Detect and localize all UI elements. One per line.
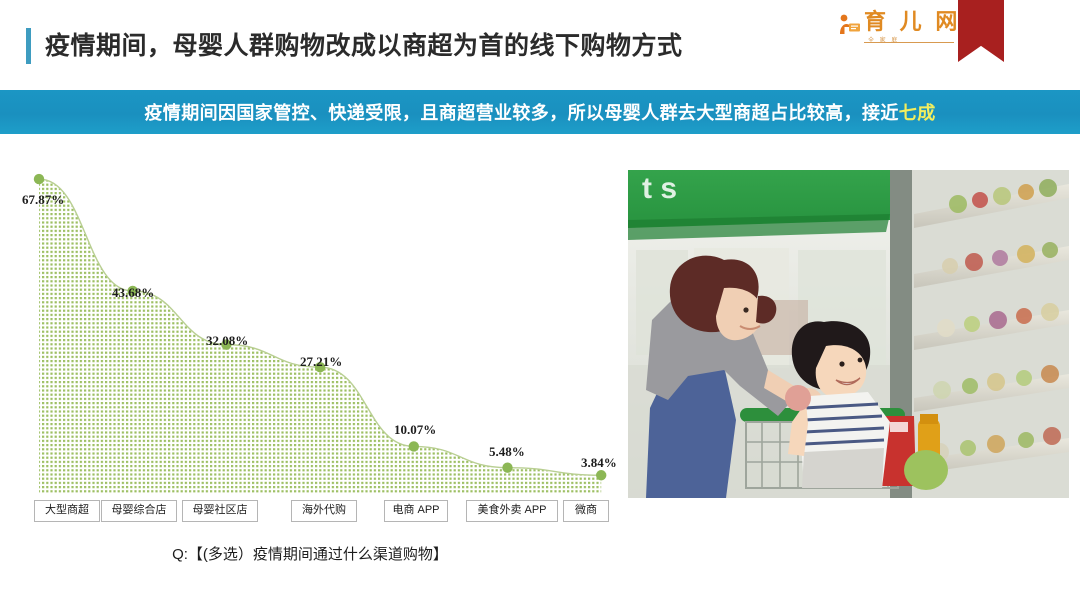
- chart-plot-svg: [0, 150, 620, 550]
- banner-text: 疫情期间因国家管控、快递受限，且商超营业较多，所以母婴人群去大型商超占比较高，接…: [144, 99, 935, 125]
- category-label-5[interactable]: 美食外卖 APP: [466, 500, 558, 522]
- category-label-1[interactable]: 母婴综合店: [101, 500, 177, 522]
- chart-point-5[interactable]: [502, 462, 512, 472]
- title-text: 疫情期间，母婴人群购物改成以商超为首的线下购物方式: [45, 34, 683, 59]
- value-label-5: 5.48%: [489, 444, 525, 460]
- slide-header: 疫情期间，母婴人群购物改成以商超为首的线下购物方式 育 儿 网 全 家 庭: [0, 0, 1080, 88]
- value-label-6: 3.84%: [581, 455, 617, 471]
- page-title: 疫情期间，母婴人群购物改成以商超为首的线下购物方式: [26, 28, 683, 64]
- chart-point-6[interactable]: [596, 470, 606, 480]
- category-label-3[interactable]: 海外代购: [291, 500, 357, 522]
- logo-wordmark: 育 儿 网: [864, 8, 960, 36]
- chart-point-4[interactable]: [409, 441, 419, 451]
- key-message-banner: 疫情期间因国家管控、快递受限，且商超营业较多，所以母婴人群去大型商超占比较高，接…: [0, 90, 1080, 134]
- value-label-1: 43.68%: [112, 285, 154, 301]
- banner-text-main: 疫情期间因国家管控、快递受限，且商超营业较多，所以母婴人群去大型商超占比较高，接…: [144, 103, 898, 123]
- category-label-4[interactable]: 电商 APP: [384, 500, 448, 522]
- brand-logo: 育 儿 网 全 家 庭: [838, 8, 958, 52]
- svg-text:t s: t s: [642, 172, 677, 205]
- banner-text-highlight: 七成: [899, 103, 936, 123]
- value-label-4: 10.07%: [394, 422, 436, 438]
- channel-share-chart: 67.87% 43.68% 32.08% 27.21% 10.07% 5.48%…: [0, 150, 620, 550]
- category-label-2[interactable]: 母婴社区店: [182, 500, 258, 522]
- title-accent-bar: [26, 28, 31, 64]
- category-label-0[interactable]: 大型商超: [34, 500, 100, 522]
- slide-root: 疫情期间，母婴人群购物改成以商超为首的线下购物方式 育 儿 网 全 家 庭 疫情…: [0, 0, 1080, 608]
- value-label-0: 67.87%: [22, 192, 64, 208]
- chart-point-0[interactable]: [34, 174, 44, 184]
- parent-child-logo-icon: [838, 12, 862, 36]
- red-ribbon-decoration: [958, 0, 1004, 62]
- chart-question-caption: Q:【(多选）疫情期间通过什么渠道购物】: [0, 543, 620, 564]
- category-label-6[interactable]: 微商: [563, 500, 609, 522]
- value-label-2: 32.08%: [206, 333, 248, 349]
- logo-subtitle: 全 家 庭: [868, 35, 899, 44]
- value-label-3: 27.21%: [300, 354, 342, 370]
- supermarket-mother-child-photo: t s: [628, 170, 1069, 498]
